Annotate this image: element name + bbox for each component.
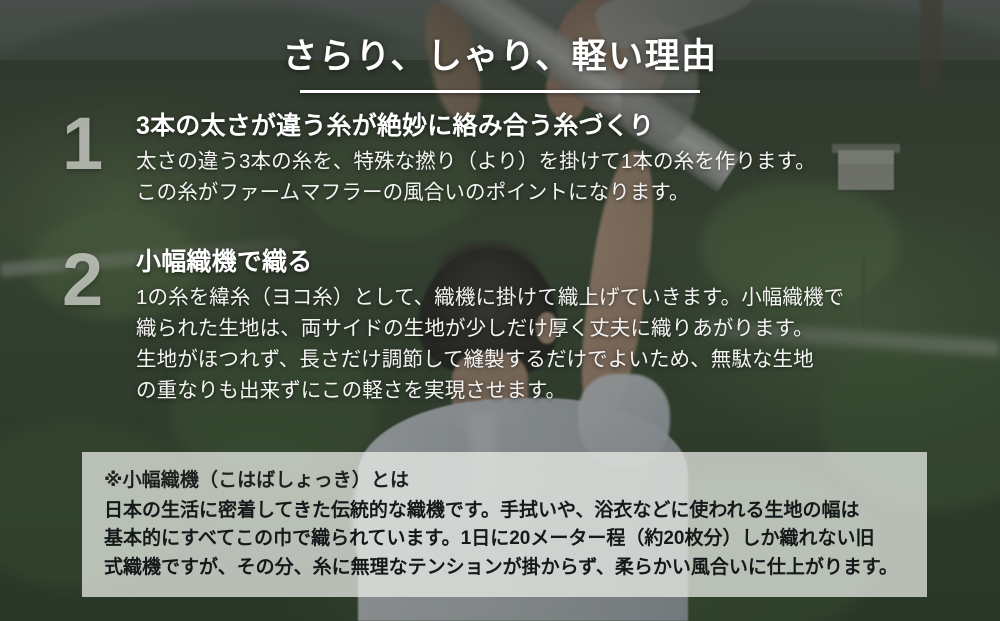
content-layer: さらり、しゃり、軽い理由 1 3本の太さが違う糸が絶妙に絡み合う糸づくり 太さの… — [0, 0, 1000, 621]
note-text-line: 式織機ですが、その分、糸に無理なテンションが掛からず、柔らかい風合いに仕上がりま… — [104, 554, 905, 583]
step-text-line: 生地がほつれず、長さだけ調節して縫製するだけでよいため、無駄な生地 — [136, 344, 960, 375]
step-text-line: この糸がファームマフラーの風合いのポイントになります。 — [136, 177, 960, 208]
step-text-1: 太さの違う3本の糸を、特殊な撚り（より）を掛けて1本の糸を作ります。 この糸がフ… — [136, 146, 960, 208]
step-item-2: 2 小幅織機で織る 1の糸を緯糸（ヨコ糸）として、織機に掛けて織上げていきます。… — [62, 246, 960, 407]
note-text-line: 日本の生活に密着してきた伝統的な織機です。手拭いや、浴衣などに使われる生地の幅は — [104, 497, 905, 526]
step-number-1: 1 — [62, 110, 136, 178]
note-heading: ※小幅織機（こはばしょっき）とは — [104, 467, 905, 496]
step-text-line: 1の糸を緯糸（ヨコ糸）として、織機に掛けて織上げていきます。小幅織機で — [136, 282, 960, 313]
note-text: 日本の生活に密着してきた伝統的な織機です。手拭いや、浴衣などに使われる生地の幅は… — [104, 497, 905, 584]
title-divider — [300, 90, 700, 93]
step-item-1: 1 3本の太さが違う糸が絶妙に絡み合う糸づくり 太さの違う3本の糸を、特殊な撚り… — [62, 110, 960, 208]
step-text-line: 太さの違う3本の糸を、特殊な撚り（より）を掛けて1本の糸を作ります。 — [136, 146, 960, 177]
step-body-1: 3本の太さが違う糸が絶妙に絡み合う糸づくり 太さの違う3本の糸を、特殊な撚り（よ… — [136, 110, 960, 208]
note-panel: ※小幅織機（こはばしょっき）とは 日本の生活に密着してきた伝統的な織機です。手拭… — [82, 452, 927, 597]
step-text-2: 1の糸を緯糸（ヨコ糸）として、織機に掛けて織上げていきます。小幅織機で 織られた… — [136, 282, 960, 407]
promo-banner: さらり、しゃり、軽い理由 1 3本の太さが違う糸が絶妙に絡み合う糸づくり 太さの… — [0, 0, 1000, 621]
page-title: さらり、しゃり、軽い理由 — [0, 28, 1000, 79]
step-body-2: 小幅織機で織る 1の糸を緯糸（ヨコ糸）として、織機に掛けて織上げていきます。小幅… — [136, 246, 960, 407]
step-text-line: の重なりも出来ずにこの軽さを実現させます。 — [136, 375, 960, 406]
step-number-2: 2 — [62, 246, 136, 314]
note-text-line: 基本的にすべてこの巾で織られています。1日に20メーター程（約20枚分）しか織れ… — [104, 525, 905, 554]
step-heading-2: 小幅織機で織る — [136, 246, 960, 278]
step-text-line: 織られた生地は、両サイドの生地が少しだけ厚く丈夫に織りあがります。 — [136, 313, 960, 344]
step-heading-1: 3本の太さが違う糸が絶妙に絡み合う糸づくり — [136, 110, 960, 142]
